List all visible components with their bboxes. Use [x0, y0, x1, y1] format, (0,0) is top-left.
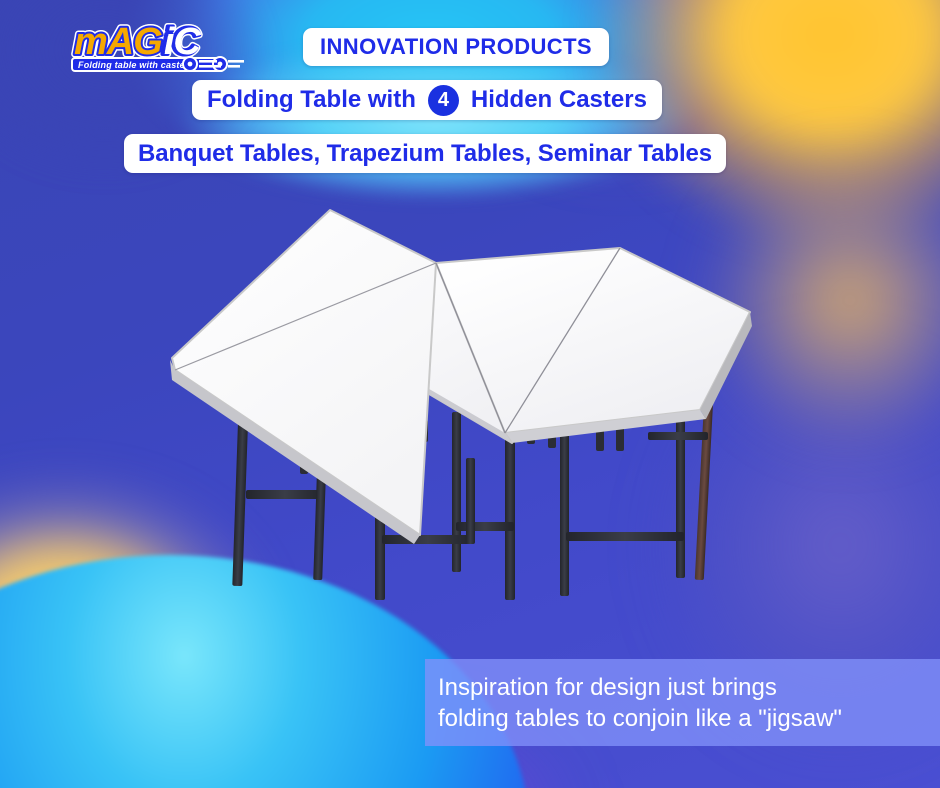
headline-text-after: Hidden Casters: [471, 86, 647, 114]
caption-band: Inspiration for design just brings foldi…: [425, 659, 940, 746]
product-image: [0, 180, 940, 660]
subheadline-badge: Banquet Tables, Trapezium Tables, Semina…: [124, 134, 726, 173]
subheadline-text: Banquet Tables, Trapezium Tables, Semina…: [138, 140, 712, 168]
headline-badge: Folding Table with 4 Hidden Casters: [192, 80, 662, 120]
caster-count-badge: 4: [428, 85, 459, 116]
poster-canvas: mAGiC mAGiC mAG iC Folding table with ca…: [0, 0, 940, 788]
caption-line-1: Inspiration for design just brings: [438, 672, 940, 703]
svg-text:Folding table with caster: Folding table with caster: [78, 60, 189, 70]
headline-text-before: Folding Table with: [207, 86, 416, 114]
svg-text:mAG: mAG: [74, 21, 162, 63]
eyebrow-badge: INNOVATION PRODUCTS: [303, 28, 609, 66]
svg-text:iC: iC: [164, 21, 202, 63]
magic-logo[interactable]: mAGiC mAGiC mAG iC Folding table with ca…: [68, 14, 246, 76]
caption-line-2: folding tables to conjoin like a "jigsaw…: [438, 703, 940, 734]
eyebrow-text: INNOVATION PRODUCTS: [320, 34, 592, 60]
